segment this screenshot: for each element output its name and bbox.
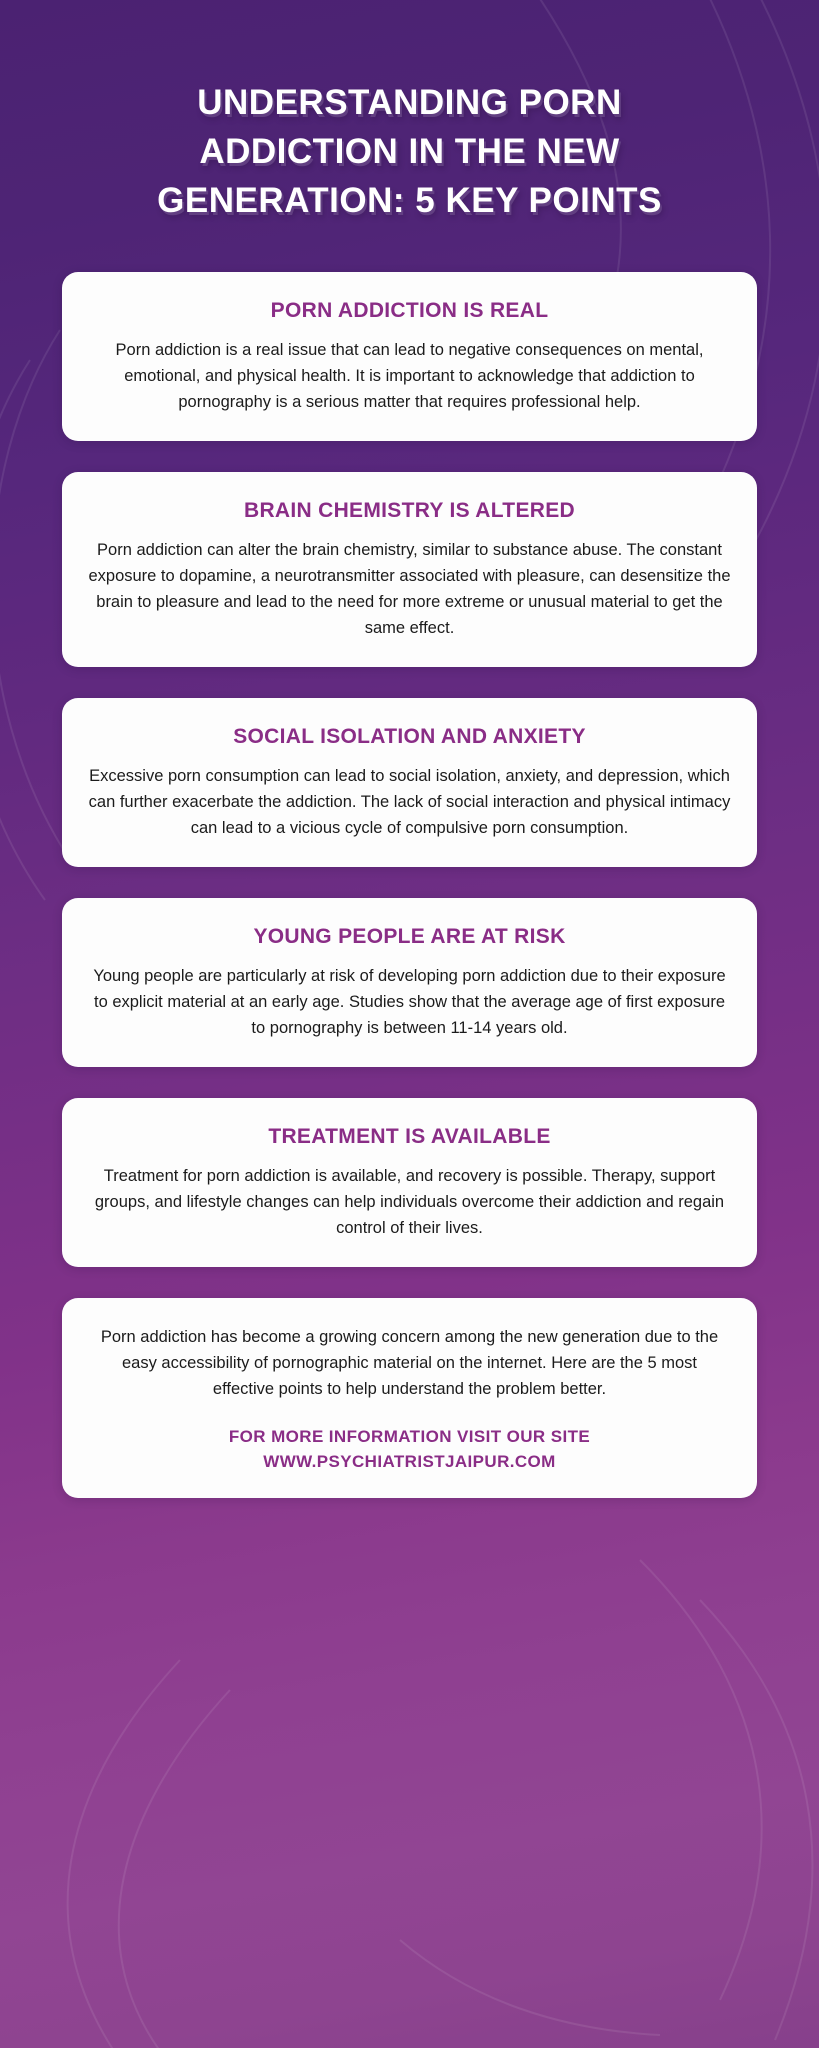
card-body: Porn addiction can alter the brain chemi… (88, 537, 731, 641)
title-line-2: ADDICTION IN THE NEW (199, 132, 619, 171)
card-body: Excessive porn consumption can lead to s… (88, 763, 731, 841)
card-title: YOUNG PEOPLE ARE AT RISK (88, 925, 731, 949)
title-line-3: GENERATION: 5 KEY POINTS (157, 181, 662, 220)
key-point-card: YOUNG PEOPLE ARE AT RISK Young people ar… (62, 898, 757, 1067)
page-title: UNDERSTANDING PORN ADDICTION IN THE NEW … (70, 78, 749, 225)
key-point-card: SOCIAL ISOLATION AND ANXIETY Excessive p… (62, 698, 757, 867)
summary-card: Porn addiction has become a growing conc… (62, 1298, 757, 1498)
card-title: BRAIN CHEMISTRY IS ALTERED (88, 499, 731, 523)
key-point-card: BRAIN CHEMISTRY IS ALTERED Porn addictio… (62, 472, 757, 667)
infographic-poster: UNDERSTANDING PORN ADDICTION IN THE NEW … (0, 0, 819, 2048)
poster-header: UNDERSTANDING PORN ADDICTION IN THE NEW … (0, 0, 819, 225)
key-points-list: PORN ADDICTION IS REAL Porn addiction is… (0, 225, 819, 1498)
summary-text: Porn addiction has become a growing conc… (92, 1324, 727, 1402)
card-title: TREATMENT IS AVAILABLE (88, 1125, 731, 1149)
card-body: Treatment for porn addiction is availabl… (88, 1163, 731, 1241)
cta-website-link[interactable]: WWW.PSYCHIATRISTJAIPUR.COM (92, 1449, 727, 1474)
cta-block: FOR MORE INFORMATION VISIT OUR SITE WWW.… (92, 1424, 727, 1474)
title-line-1: UNDERSTANDING PORN (197, 83, 621, 122)
key-point-card: PORN ADDICTION IS REAL Porn addiction is… (62, 272, 757, 441)
key-point-card: TREATMENT IS AVAILABLE Treatment for por… (62, 1098, 757, 1267)
cta-heading: FOR MORE INFORMATION VISIT OUR SITE (92, 1424, 727, 1449)
card-body: Young people are particularly at risk of… (88, 963, 731, 1041)
card-title: SOCIAL ISOLATION AND ANXIETY (88, 725, 731, 749)
card-body: Porn addiction is a real issue that can … (88, 337, 731, 415)
card-title: PORN ADDICTION IS REAL (88, 299, 731, 323)
